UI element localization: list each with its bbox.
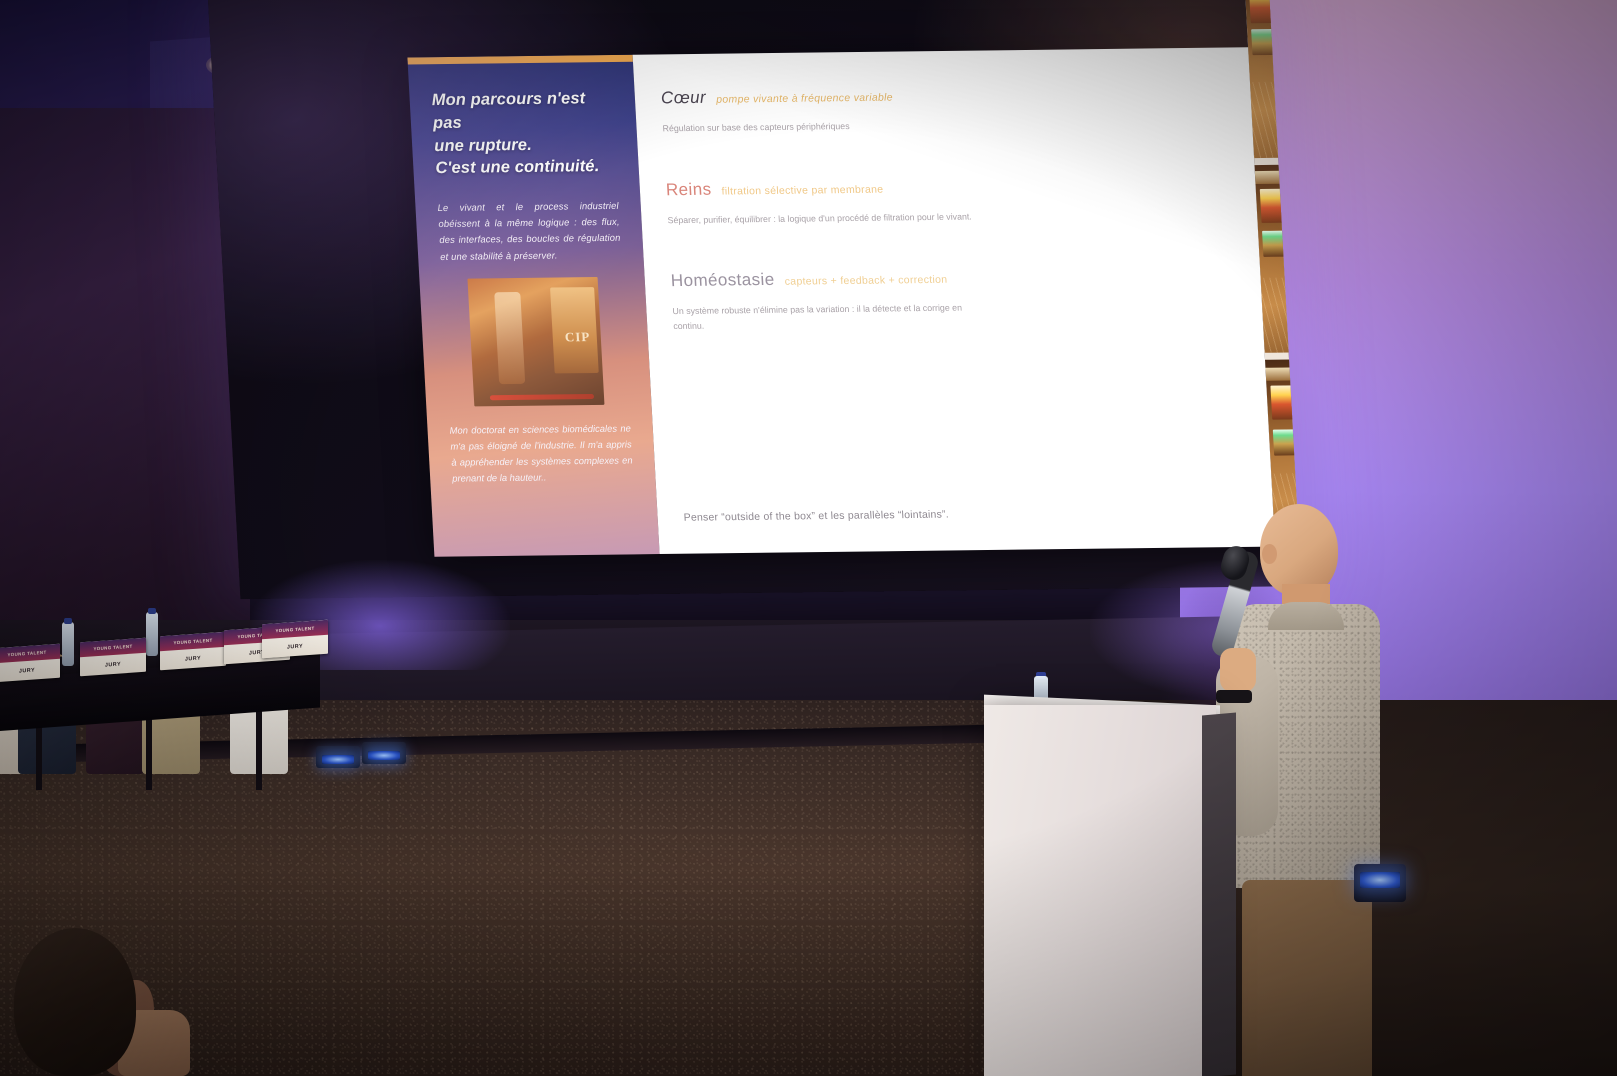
process-vessel (494, 292, 525, 384)
block-text-homeostasie: Un système robuste n'élimine pas la vari… (672, 300, 994, 333)
slide-title: Mon parcours n'est pas une rupture. C'es… (431, 87, 617, 180)
block-subtitle-coeur: pompe vivante à fréquence variable (716, 92, 893, 106)
slide-left-panel: Mon parcours n'est pas une rupture. C'es… (407, 55, 659, 557)
projection-screen-surface: Mon parcours n'est pas une rupture. C'es… (208, 0, 1301, 599)
water-bottle-icon (62, 622, 74, 666)
water-bottle-icon (146, 612, 158, 656)
name-card-role: JURY (262, 642, 328, 653)
podium-side (1202, 713, 1236, 1076)
name-card-band: YOUNG TALENT (160, 632, 226, 652)
stage-light-lens (322, 755, 354, 764)
slide-title-line-3: C'est une continuité. (435, 155, 617, 180)
presenter (1216, 498, 1386, 1076)
cip-label: CIP (564, 329, 590, 345)
name-card-role: JURY (160, 654, 226, 665)
presenter-legs (1242, 880, 1372, 1076)
slide-title-line-1: Mon parcours n'est pas (431, 87, 615, 135)
block-subtitle-homeostasie: capteurs + feedback + correction (784, 274, 947, 288)
block-title-reins: Reins (665, 179, 712, 200)
block-title-coeur: Cœur (660, 88, 706, 109)
slide-block-homeostasie: Homéostasie capteurs + feedback + correc… (670, 264, 1237, 333)
stage-light-icon (316, 746, 360, 768)
name-card-role: JURY (0, 666, 60, 677)
slide-left-body: Le vivant et le process industriel obéis… (437, 198, 622, 265)
slide-block-coeur: Cœur pompe vivante à fréquence variable … (660, 82, 1226, 136)
slide-block-reins: Reins filtration sélective par membrane … (665, 173, 1231, 227)
block-text-coeur: Régulation sur base des capteurs périphé… (662, 117, 983, 135)
name-card-band: YOUNG TALENT (0, 644, 60, 664)
industrial-process-photo: CIP (467, 277, 604, 406)
wristwatch-icon (1216, 690, 1252, 703)
name-card-band: YOUNG TALENT (80, 638, 146, 658)
slide-left-footer: Mon doctorat en sciences biomédicales ne… (449, 420, 634, 487)
stage-light-lens (368, 751, 400, 760)
bottle-cap (148, 608, 156, 614)
podium (984, 705, 1216, 1076)
name-card-brand: YOUNG TALENT (93, 644, 132, 652)
stage-light-lens (1360, 872, 1400, 888)
jury-name-card: YOUNG TALENT JURY (262, 620, 328, 659)
audience-head (14, 928, 136, 1076)
jury-name-card: YOUNG TALENT JURY (160, 632, 226, 671)
presenter-hand (1220, 648, 1256, 692)
block-title-homeostasie: Homéostasie (670, 270, 775, 291)
auditorium-scene: Mon parcours n'est pas une rupture. C'es… (0, 0, 1617, 1076)
name-card-band: YOUNG TALENT (262, 620, 328, 640)
process-hose (489, 394, 593, 400)
slide-content-panel: Cœur pompe vivante à fréquence variable … (633, 47, 1276, 554)
name-card-brand: YOUNG TALENT (275, 626, 314, 634)
jury-name-card: YOUNG TALENT JURY (0, 644, 60, 683)
bottle-cap (64, 618, 72, 624)
jury-name-card: YOUNG TALENT JURY (80, 638, 146, 677)
presentation-slide: Mon parcours n'est pas une rupture. C'es… (407, 47, 1275, 557)
stage-light-icon (362, 742, 406, 764)
slide-title-line-2: une rupture. (434, 132, 616, 157)
block-subtitle-reins: filtration sélective par membrane (721, 183, 883, 197)
presenter-collar (1268, 602, 1344, 630)
projection-screen: Mon parcours n'est pas une rupture. C'es… (208, 0, 1301, 599)
name-card-brand: YOUNG TALENT (7, 650, 46, 658)
name-card-brand: YOUNG TALENT (173, 638, 212, 646)
presenter-ear (1262, 544, 1277, 564)
stool-leg (256, 700, 262, 790)
block-text-reins: Séparer, purifier, équilibrer : la logiq… (667, 209, 988, 227)
slide-bottom-line: Penser “outside of the box” et les paral… (683, 509, 949, 524)
name-card-role: JURY (80, 660, 146, 671)
